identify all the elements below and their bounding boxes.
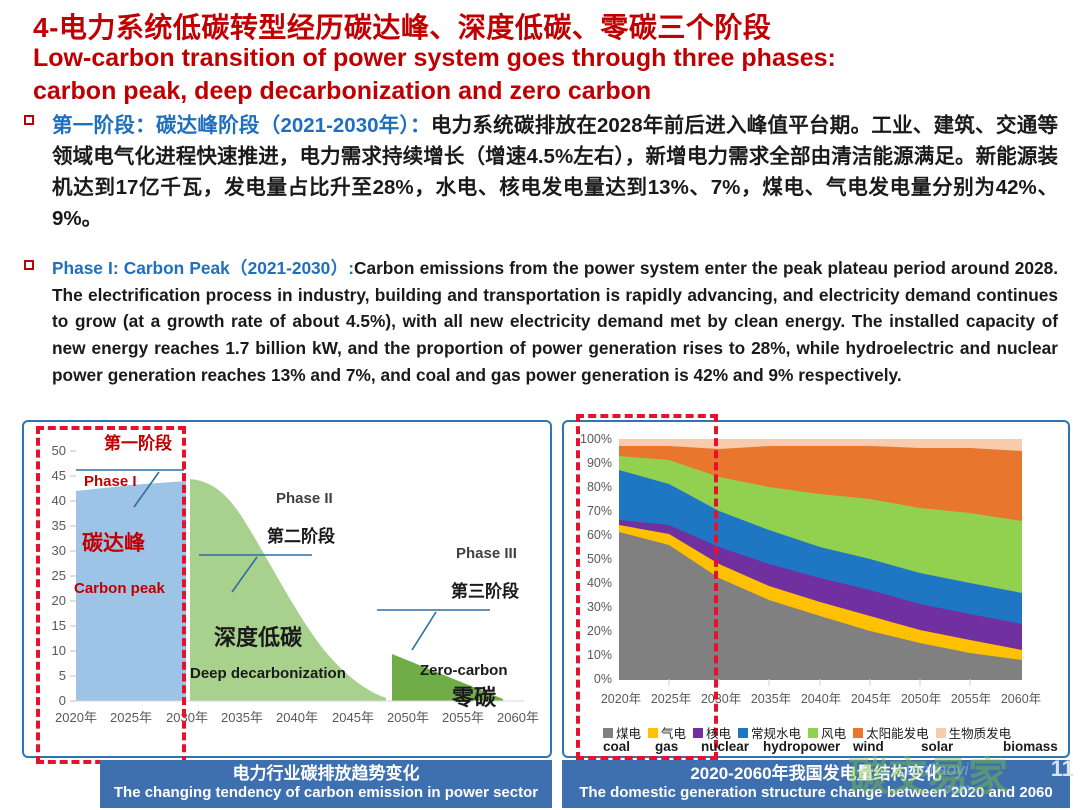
right-chart-panel: 100% 90% 80% 70% 60% 50% 40% 30% 20% 10%… bbox=[562, 420, 1070, 758]
svg-text:2020年: 2020年 bbox=[601, 692, 641, 706]
legend-label-en-hydropower: hydropower bbox=[763, 739, 840, 754]
svg-text:20%: 20% bbox=[587, 624, 612, 638]
bullet-english-lead: Phase I: Carbon Peak（2021-2030）: bbox=[52, 258, 354, 278]
svg-text:2040年: 2040年 bbox=[276, 710, 318, 725]
right-x-ticks bbox=[669, 679, 970, 686]
svg-text:10: 10 bbox=[52, 643, 66, 658]
svg-text:0: 0 bbox=[59, 693, 66, 708]
bullet-marker-icon bbox=[24, 115, 34, 125]
left-x-axis-labels: 2020年 2025年 2030年 2035年 2040年 2045年 2050… bbox=[55, 710, 539, 725]
svg-text:2030年: 2030年 bbox=[166, 710, 208, 725]
svg-text:45: 45 bbox=[52, 468, 66, 483]
svg-text:2035年: 2035年 bbox=[751, 692, 791, 706]
annotation-deep-decarb-cn: 深度低碳 bbox=[214, 620, 302, 652]
svg-text:2060年: 2060年 bbox=[497, 710, 539, 725]
svg-text:50%: 50% bbox=[587, 552, 612, 566]
bullet-chinese-body: 第一阶段：碳达峰阶段（2021-2030年）：电力系统碳排放在2028年前后进入… bbox=[52, 110, 1058, 235]
legend-swatch-wind-icon bbox=[808, 728, 818, 738]
bullet-chinese-lead: 第一阶段：碳达峰阶段（2021-2030年）： bbox=[52, 114, 431, 137]
svg-text:25: 25 bbox=[52, 568, 66, 583]
page-title-cn: 4-电力系统低碳转型经历碳达峰、深度低碳、零碳三个阶段 bbox=[33, 6, 1053, 46]
right-chart-legend: 煤电 气电 核电 常规水电 风电 太阳能发电 bbox=[603, 723, 1073, 759]
svg-text:20: 20 bbox=[52, 593, 66, 608]
page-title-en-line1: Low-carbon transition of power system go… bbox=[33, 42, 1043, 75]
right-caption-cn: 2020-2060年我国发电量结构变化 bbox=[562, 763, 1070, 784]
annotation-deep-decarb-en: Deep decarbonization bbox=[190, 665, 346, 682]
right-x-axis-labels: 2020年 2025年 2030年 2035年 2040年 2045年 2050… bbox=[601, 692, 1041, 706]
svg-text:2025年: 2025年 bbox=[651, 692, 691, 706]
left-chart-caption: 电力行业碳排放趋势变化 The changing tendency of car… bbox=[100, 760, 552, 808]
left-y-axis-labels: 5045 4035 3025 2015 105 0 bbox=[52, 443, 66, 708]
svg-text:100%: 100% bbox=[580, 432, 612, 446]
svg-text:30: 30 bbox=[52, 543, 66, 558]
svg-text:2045年: 2045年 bbox=[332, 710, 374, 725]
legend-label-biomass: 生物质发电 bbox=[949, 723, 1012, 742]
annotation-carbon-peak-en: Carbon peak bbox=[74, 580, 165, 597]
right-y-axis-labels: 100% 90% 80% 70% 60% 50% 40% 30% 20% 10%… bbox=[580, 432, 612, 686]
legend-label-en-solar: solar bbox=[921, 739, 953, 754]
right-chart-caption: 2020-2060年我国发电量结构变化 The domestic generat… bbox=[562, 760, 1070, 808]
svg-text:2025年: 2025年 bbox=[110, 710, 152, 725]
legend-label-en-wind: wind bbox=[853, 739, 884, 754]
annotation-zero-carbon-en: Zero-carbon bbox=[420, 662, 508, 679]
page-title-en: Low-carbon transition of power system go… bbox=[33, 42, 1043, 107]
bullet-marker-icon bbox=[24, 260, 34, 270]
svg-text:2030年: 2030年 bbox=[701, 692, 741, 706]
svg-text:50: 50 bbox=[52, 443, 66, 458]
legend-swatch-nuclear-icon bbox=[693, 728, 703, 738]
annotation-phase1-en: Phase I bbox=[84, 473, 137, 490]
left-caption-cn: 电力行业碳排放趋势变化 bbox=[100, 763, 552, 784]
svg-text:2055年: 2055年 bbox=[951, 692, 991, 706]
right-caption-en: The domestic generation structure change… bbox=[562, 784, 1070, 803]
svg-text:2040年: 2040年 bbox=[801, 692, 841, 706]
svg-text:2020年: 2020年 bbox=[55, 710, 97, 725]
annotation-phase3-cn: 第三阶段 bbox=[451, 577, 519, 602]
svg-text:2035年: 2035年 bbox=[221, 710, 263, 725]
slide-root: 4-电力系统低碳转型经历碳达峰、深度低碳、零碳三个阶段 Low-carbon t… bbox=[0, 0, 1080, 810]
svg-text:2060年: 2060年 bbox=[1001, 692, 1041, 706]
svg-text:15: 15 bbox=[52, 618, 66, 633]
paragraph-chinese: 第一阶段：碳达峰阶段（2021-2030年）：电力系统碳排放在2028年前后进入… bbox=[52, 110, 1058, 235]
svg-text:80%: 80% bbox=[587, 480, 612, 494]
paragraph-english: Phase I: Carbon Peak（2021-2030）:Carbon e… bbox=[52, 255, 1058, 388]
svg-text:40%: 40% bbox=[587, 576, 612, 590]
svg-text:2045年: 2045年 bbox=[851, 692, 891, 706]
legend-swatch-coal-icon bbox=[603, 728, 613, 738]
page-title-en-line2: carbon peak, deep decarbonization and ze… bbox=[33, 75, 1043, 108]
legend-swatch-solar-icon bbox=[853, 728, 863, 738]
svg-text:10%: 10% bbox=[587, 648, 612, 662]
bullet-english-body: Phase I: Carbon Peak（2021-2030）:Carbon e… bbox=[52, 255, 1058, 388]
legend-swatch-gas-icon bbox=[648, 728, 658, 738]
svg-text:70%: 70% bbox=[587, 504, 612, 518]
svg-text:2050年: 2050年 bbox=[901, 692, 941, 706]
svg-text:60%: 60% bbox=[587, 528, 612, 542]
left-chart-panel: 5045 4035 3025 2015 105 0 bbox=[22, 420, 552, 758]
svg-text:2055年: 2055年 bbox=[442, 710, 484, 725]
legend-label-en-gas: gas bbox=[655, 739, 678, 754]
svg-text:0%: 0% bbox=[594, 672, 612, 686]
svg-text:35: 35 bbox=[52, 518, 66, 533]
legend-swatch-biomass-icon bbox=[936, 728, 946, 738]
stacked-area-bands bbox=[619, 439, 1022, 679]
annotation-carbon-peak-cn: 碳达峰 bbox=[82, 527, 145, 557]
page-number: 11 bbox=[1051, 756, 1074, 782]
left-caption-en: The changing tendency of carbon emission… bbox=[100, 784, 552, 803]
bullet-chinese: 第一阶段：碳达峰阶段（2021-2030年）：电力系统碳排放在2028年前后进入… bbox=[24, 110, 1058, 235]
svg-text:5: 5 bbox=[59, 668, 66, 683]
svg-text:40: 40 bbox=[52, 493, 66, 508]
annotation-phase2-en: Phase II bbox=[276, 490, 333, 507]
left-y-axis-ticks bbox=[70, 451, 76, 701]
generation-structure-chart: 100% 90% 80% 70% 60% 50% 40% 30% 20% 10%… bbox=[564, 422, 1068, 756]
annotation-phase1-cn: 第一阶段 bbox=[104, 429, 172, 454]
legend-label-en-coal: coal bbox=[603, 739, 630, 754]
svg-text:2050年: 2050年 bbox=[387, 710, 429, 725]
legend-label-en-biomass: biomass bbox=[1003, 739, 1058, 754]
svg-text:90%: 90% bbox=[587, 456, 612, 470]
legend-label-en-nuclear: nuclear bbox=[701, 739, 749, 754]
annotation-phase3-en: Phase III bbox=[456, 545, 517, 562]
annotation-phase2-cn: 第二阶段 bbox=[267, 522, 335, 547]
svg-text:30%: 30% bbox=[587, 600, 612, 614]
legend-swatch-hydropower-icon bbox=[738, 728, 748, 738]
bullet-english: Phase I: Carbon Peak（2021-2030）:Carbon e… bbox=[24, 255, 1058, 388]
annotation-zero-carbon-cn: 零碳 bbox=[452, 680, 496, 712]
